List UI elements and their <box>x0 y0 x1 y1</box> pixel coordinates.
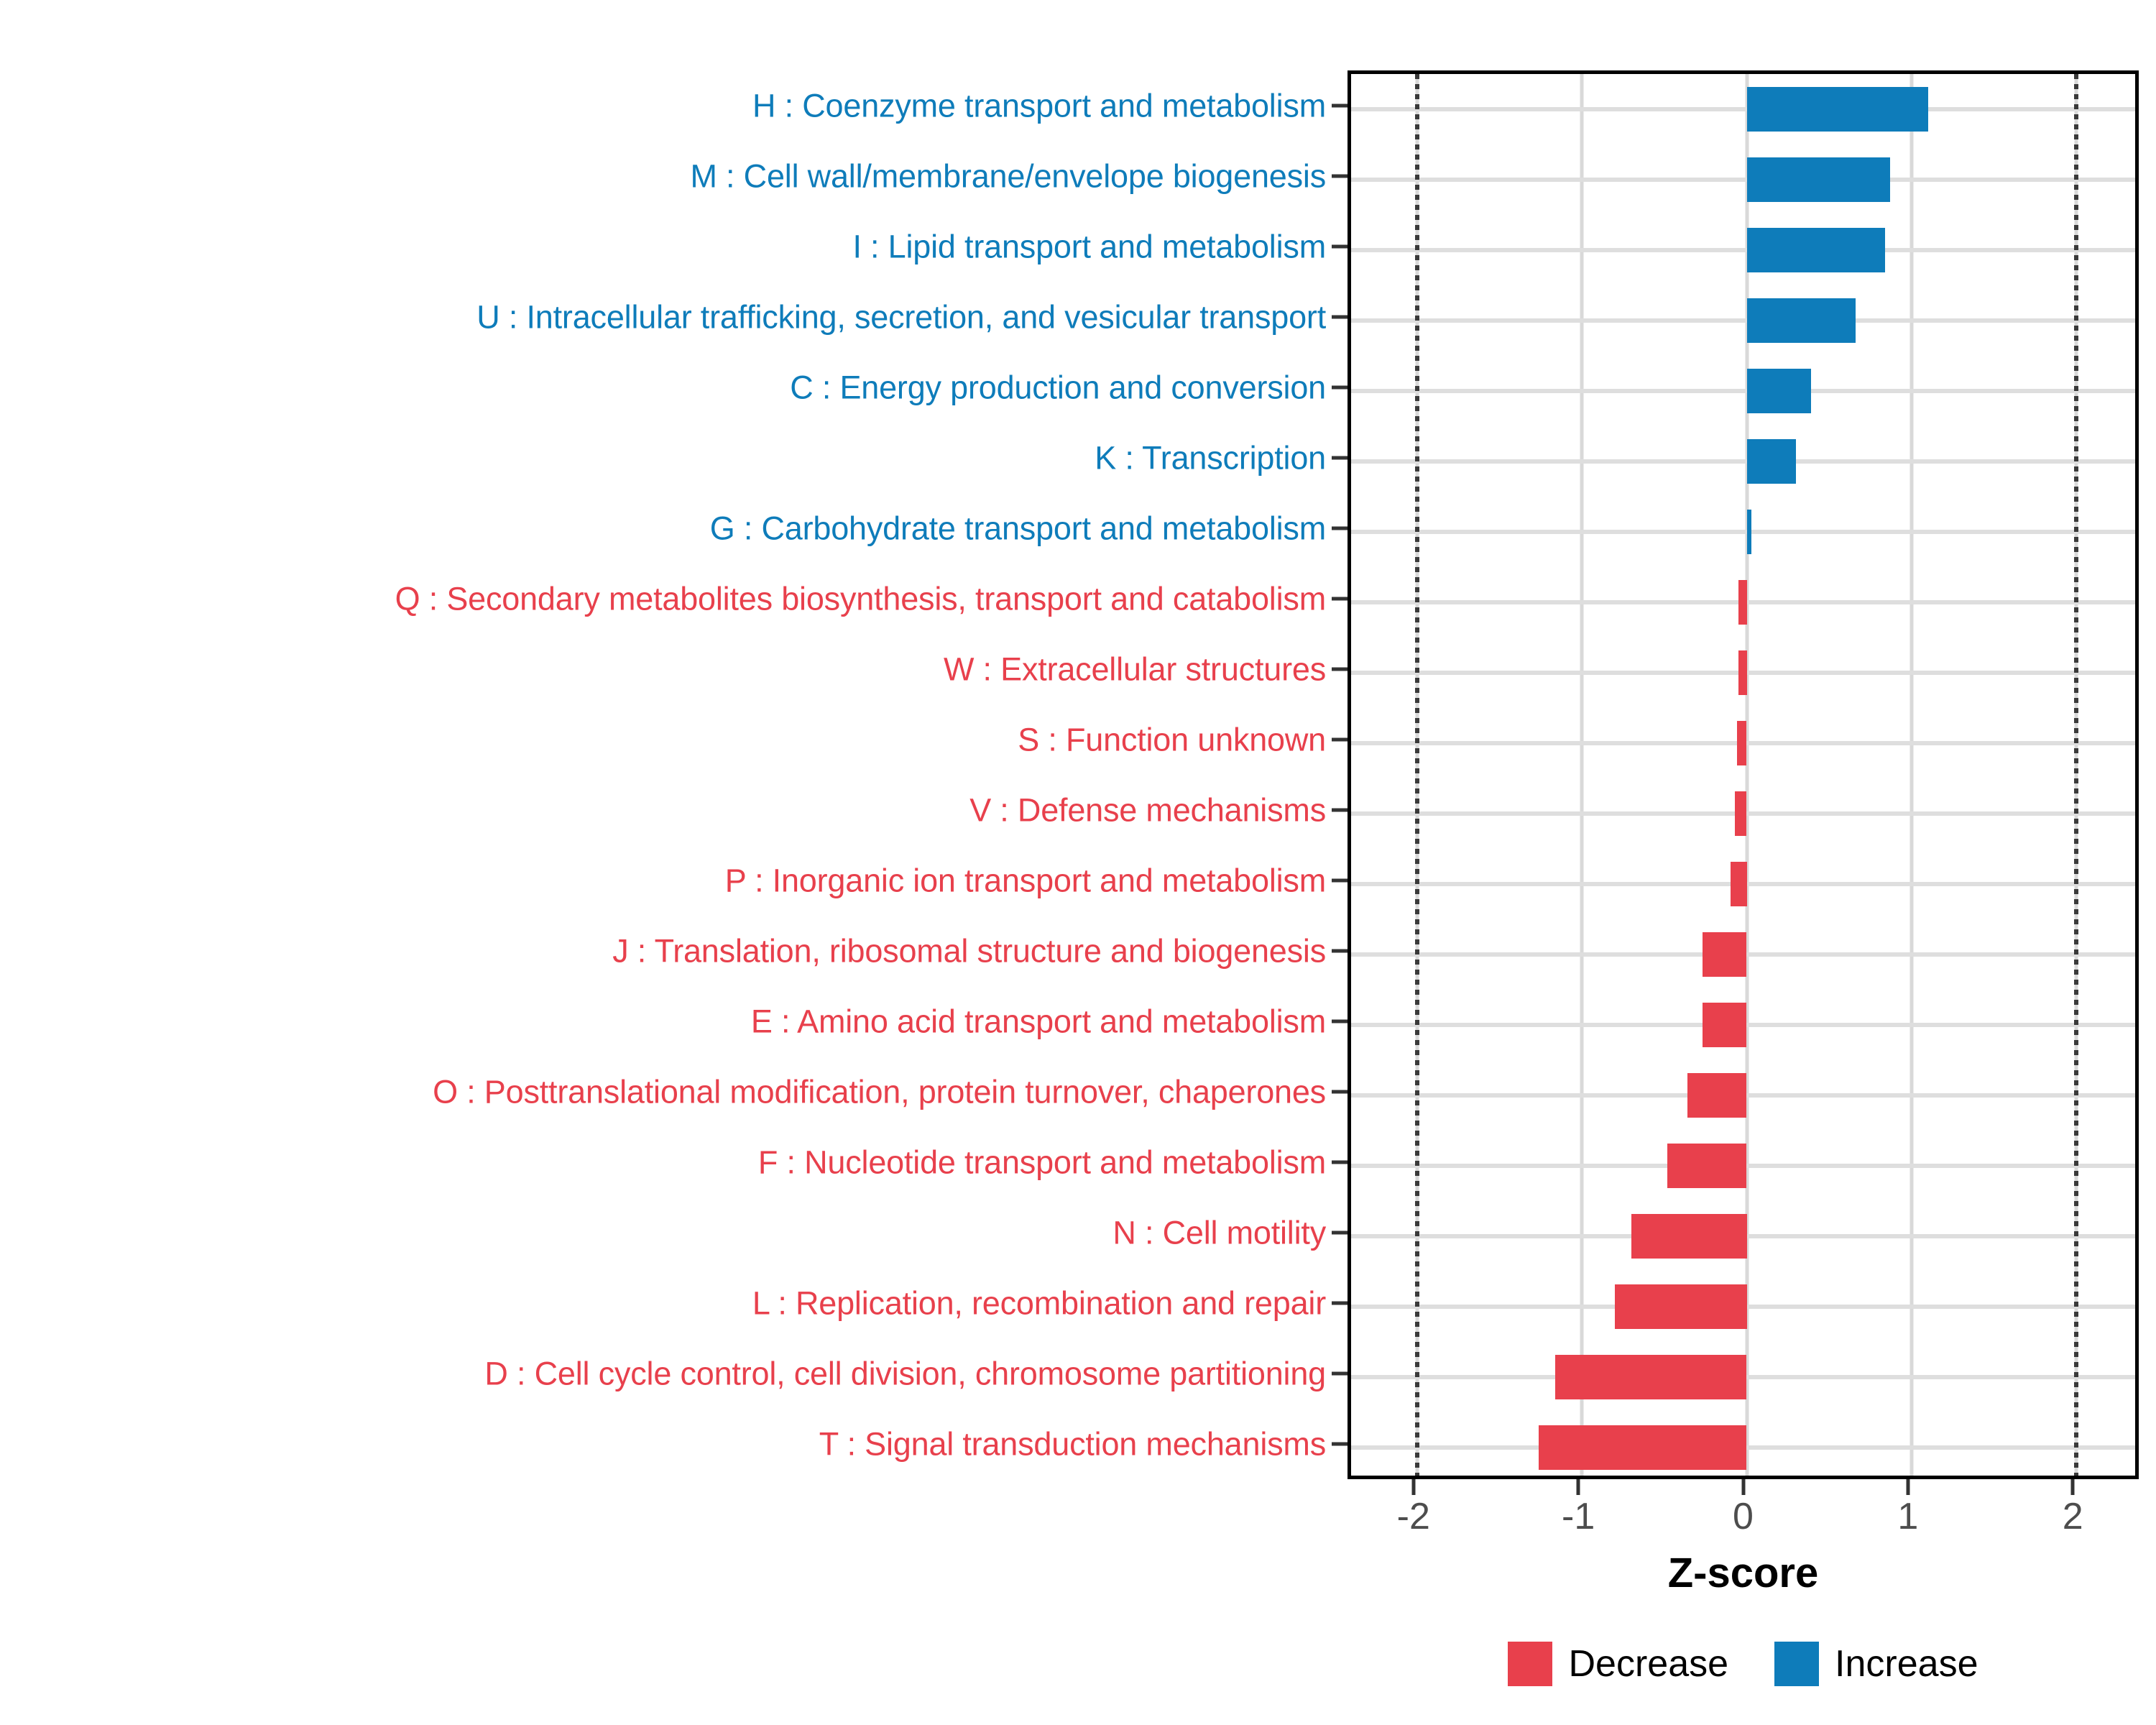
bar <box>1555 1355 1746 1399</box>
bar <box>1631 1214 1747 1259</box>
category-label: S : Function unknown <box>0 724 1326 756</box>
vertical-gridline <box>1745 74 1749 1476</box>
category-label: D : Cell cycle control, cell division, c… <box>0 1358 1326 1390</box>
category-label: J : Translation, ribosomal structure and… <box>0 935 1326 967</box>
y-axis-tick <box>1332 175 1347 178</box>
category-label: Q : Secondary metabolites biosynthesis, … <box>0 583 1326 615</box>
y-axis-tick <box>1332 597 1347 601</box>
bar <box>1667 1144 1746 1188</box>
y-axis-tick <box>1332 879 1347 883</box>
y-axis-tick <box>1332 1020 1347 1023</box>
horizontal-gridline <box>1351 389 2135 393</box>
vertical-gridline <box>1580 74 1584 1476</box>
category-label: N : Cell motility <box>0 1217 1326 1249</box>
y-axis-tick <box>1332 1443 1347 1446</box>
y-axis-tick <box>1332 1372 1347 1376</box>
category-label: W : Extracellular structures <box>0 653 1326 686</box>
y-axis-tick <box>1332 104 1347 108</box>
category-label: E : Amino acid transport and metabolism <box>0 1006 1326 1038</box>
legend: DecreaseIncrease <box>1347 1635 2139 1693</box>
y-axis-tick <box>1332 738 1347 742</box>
bar <box>1747 157 1891 202</box>
bar <box>1738 650 1746 695</box>
bar <box>1703 1003 1747 1047</box>
legend-item[interactable]: Increase <box>1774 1642 1978 1686</box>
bar <box>1747 228 1886 272</box>
bar <box>1735 791 1746 836</box>
bar <box>1747 439 1797 484</box>
cog-zscore-chart: H : Coenzyme transport and metabolismM :… <box>0 0 2156 1725</box>
legend-label: Increase <box>1835 1645 1978 1683</box>
category-label: H : Coenzyme transport and metabolism <box>0 90 1326 122</box>
vertical-gridline <box>1909 74 1913 1476</box>
y-axis-tick <box>1332 1302 1347 1305</box>
x-axis-tick-label: 0 <box>1733 1498 1754 1535</box>
bar <box>1737 721 1747 765</box>
x-axis-tick <box>1906 1479 1909 1495</box>
bar <box>1615 1284 1747 1329</box>
x-axis-title: Z-score <box>1347 1552 2139 1594</box>
horizontal-gridline <box>1351 178 2135 182</box>
category-label: V : Defense mechanisms <box>0 794 1326 827</box>
y-axis-tick <box>1332 527 1347 530</box>
x-axis-tick <box>2071 1479 2075 1495</box>
bar <box>1731 862 1747 906</box>
x-axis-tick-label: 1 <box>1897 1498 1918 1535</box>
bar <box>1703 932 1747 977</box>
legend-swatch <box>1508 1642 1552 1686</box>
category-label: K : Transcription <box>0 442 1326 474</box>
horizontal-gridline <box>1351 318 2135 323</box>
category-label: F : Nucleotide transport and metabolism <box>0 1146 1326 1179</box>
x-axis-tick-label: 2 <box>2063 1498 2083 1535</box>
category-label: P : Inorganic ion transport and metaboli… <box>0 865 1326 897</box>
y-axis-tick <box>1332 386 1347 390</box>
category-axis: H : Coenzyme transport and metabolismM :… <box>0 70 1326 1479</box>
reference-line <box>1415 74 1419 1476</box>
y-axis-tick <box>1332 1090 1347 1094</box>
reference-line <box>2074 74 2078 1476</box>
bar <box>1747 87 1928 132</box>
category-label: O : Posttranslational modification, prot… <box>0 1076 1326 1108</box>
y-axis-tick <box>1332 316 1347 319</box>
y-axis-tick <box>1332 456 1347 460</box>
category-label: C : Energy production and conversion <box>0 372 1326 404</box>
x-axis-tick <box>1411 1479 1415 1495</box>
horizontal-gridline <box>1351 107 2135 111</box>
bar <box>1747 298 1856 343</box>
bar <box>1687 1073 1747 1118</box>
category-label: U : Intracellular trafficking, secretion… <box>0 301 1326 333</box>
category-label: M : Cell wall/membrane/envelope biogenes… <box>0 160 1326 193</box>
y-axis-tick <box>1332 1161 1347 1164</box>
category-label: L : Replication, recombination and repai… <box>0 1287 1326 1320</box>
y-axis-tick <box>1332 949 1347 953</box>
legend-item[interactable]: Decrease <box>1508 1642 1728 1686</box>
legend-swatch <box>1774 1642 1819 1686</box>
legend-label: Decrease <box>1568 1645 1728 1683</box>
x-axis-tick-label: -2 <box>1397 1498 1430 1535</box>
plot-panel <box>1347 70 2139 1479</box>
horizontal-gridline <box>1351 530 2135 534</box>
bar <box>1747 510 1752 554</box>
category-label: G : Carbohydrate transport and metabolis… <box>0 512 1326 545</box>
horizontal-gridline <box>1351 459 2135 464</box>
bar <box>1738 580 1746 625</box>
x-axis-tick <box>1577 1479 1580 1495</box>
x-axis-tick <box>1741 1479 1745 1495</box>
y-axis-tick <box>1332 668 1347 671</box>
y-axis-tick <box>1332 809 1347 812</box>
x-axis-tick-label: -1 <box>1562 1498 1595 1535</box>
y-axis-tick <box>1332 245 1347 249</box>
horizontal-gridline <box>1351 248 2135 252</box>
y-axis-tick <box>1332 1231 1347 1235</box>
category-label: T : Signal transduction mechanisms <box>0 1428 1326 1460</box>
bar <box>1539 1425 1746 1470</box>
bar <box>1747 369 1811 413</box>
category-label: I : Lipid transport and metabolism <box>0 231 1326 263</box>
